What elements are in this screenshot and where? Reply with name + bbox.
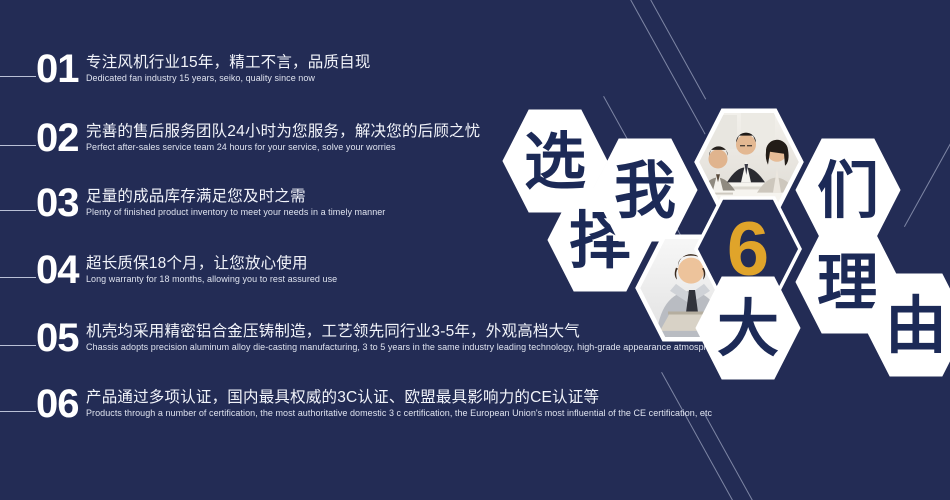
reason-number: 05 xyxy=(36,318,79,358)
hexagon-cell-men: 们 xyxy=(796,139,900,241)
reason-leader-line xyxy=(0,345,36,346)
reason-text-cn: 完善的售后服务团队24小时为您服务，解决您的后顾之忧 xyxy=(86,122,480,141)
reason-leader-line xyxy=(0,411,36,412)
reason-text-block: 产品通过多项认证，国内最具权威的3C认证、欧盟最具影响力的CE认证等Produc… xyxy=(86,388,712,420)
reason-item-05: 05机壳均采用精密铝合金压铸制造，工艺领先同行业3-5年，外观高档大气Chass… xyxy=(0,322,700,382)
reason-number: 03 xyxy=(36,183,79,223)
reason-item-01: 01专注风机行业15年，精工不言，品质自现Dedicated fan indus… xyxy=(0,53,700,113)
reason-text-cn: 产品通过多项认证，国内最具权威的3C认证、欧盟最具影响力的CE认证等 xyxy=(86,388,712,407)
promo-banner: 01专注风机行业15年，精工不言，品质自现Dedicated fan indus… xyxy=(0,0,950,500)
headline-char-men: 们 xyxy=(817,157,879,226)
reason-leader-line xyxy=(0,210,36,211)
reason-text-cn: 专注风机行业15年，精工不言，品质自现 xyxy=(86,53,371,72)
reason-text-block: 完善的售后服务团队24小时为您服务，解决您的后顾之忧Perfect after-… xyxy=(86,122,480,154)
reason-text-en: Dedicated fan industry 15 years, seiko, … xyxy=(86,73,371,85)
reason-number: 06 xyxy=(36,384,79,424)
reason-text-en: Products through a number of certificati… xyxy=(86,408,712,420)
reason-text-block: 足量的成品库存满足您及时之需Plenty of finished product… xyxy=(86,187,385,219)
reason-text-en: Plenty of finished product inventory to … xyxy=(86,207,385,219)
reason-number: 02 xyxy=(36,118,79,158)
reason-text-en: Perfect after-sales service team 24 hour… xyxy=(86,142,480,154)
reason-text-en: Chassis adopts precision aluminum alloy … xyxy=(86,342,722,354)
headline-char-xuan: 选 xyxy=(524,128,586,197)
reason-text-cn: 足量的成品库存满足您及时之需 xyxy=(86,187,385,206)
diagonal-line xyxy=(703,412,760,500)
reason-number: 01 xyxy=(36,49,79,89)
reason-text-cn: 超长质保18个月，让您放心使用 xyxy=(86,254,337,273)
reason-item-06: 06产品通过多项认证，国内最具权威的3C认证、欧盟最具影响力的CE认证等Prod… xyxy=(0,388,700,448)
headline-char-li: 理 xyxy=(817,249,879,318)
reason-leader-line xyxy=(0,277,36,278)
diagonal-line xyxy=(904,121,950,227)
reason-number: 04 xyxy=(36,250,79,290)
reason-text-block: 超长质保18个月，让您放心使用Long warranty for 18 mont… xyxy=(86,254,337,286)
reason-leader-line xyxy=(0,76,36,77)
headline-char-wo: 我 xyxy=(614,157,676,226)
reason-text-block: 专注风机行业15年，精工不言，品质自现Dedicated fan industr… xyxy=(86,53,371,85)
reason-leader-line xyxy=(0,145,36,146)
reason-text-cn: 机壳均采用精密铝合金压铸制造，工艺领先同行业3-5年，外观高档大气 xyxy=(86,322,722,341)
reason-text-block: 机壳均采用精密铝合金压铸制造，工艺领先同行业3-5年，外观高档大气Chassis… xyxy=(86,322,722,354)
reason-text-en: Long warranty for 18 months, allowing yo… xyxy=(86,274,337,286)
headline-char-da: 大 xyxy=(717,295,779,364)
headline-char-you: 由 xyxy=(885,292,947,361)
